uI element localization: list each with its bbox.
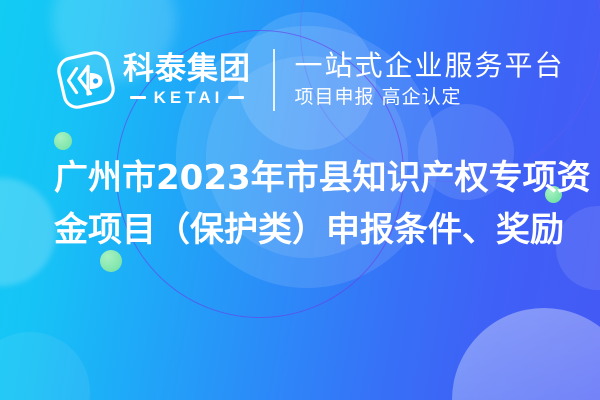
tagline-block: 一站式企业服务平台 项目申报 高企认定: [295, 50, 565, 109]
brand-name-en: KETAI: [146, 89, 229, 106]
tagline-primary: 一站式企业服务平台: [295, 50, 565, 81]
accent-dot-upper-left: [54, 132, 72, 150]
decorative-circle-bottom-right: [452, 308, 600, 400]
wordmark-rule-left: [130, 96, 146, 99]
brand-logo[interactable]: 科泰集团 KETAI: [57, 51, 251, 109]
brand-name-en-row: KETAI: [123, 89, 251, 106]
header-divider: [273, 49, 275, 111]
banner-header: 科泰集团 KETAI 一站式企业服务平台 项目申报 高企认定: [0, 40, 600, 120]
wordmark-rule-right: [228, 96, 244, 99]
promo-banner: 科泰集团 KETAI 一站式企业服务平台 项目申报 高企认定 广州市2023年市…: [0, 0, 600, 400]
decorative-circle-bottom-left: [0, 332, 90, 400]
tagline-secondary: 项目申报 高企认定: [295, 86, 565, 110]
ketai-kd-monogram-icon: [57, 51, 115, 109]
headline-line-1: 广州市2023年市县知识产权专项资: [54, 152, 546, 204]
headline-block: 广州市2023年市县知识产权专项资 金项目（保护类）申报条件、奖励: [0, 152, 600, 256]
headline-line-2: 金项目（保护类）申报条件、奖励: [54, 204, 546, 256]
brand-wordmark: 科泰集团 KETAI: [123, 54, 251, 106]
brand-name-cn: 科泰集团: [123, 54, 251, 85]
